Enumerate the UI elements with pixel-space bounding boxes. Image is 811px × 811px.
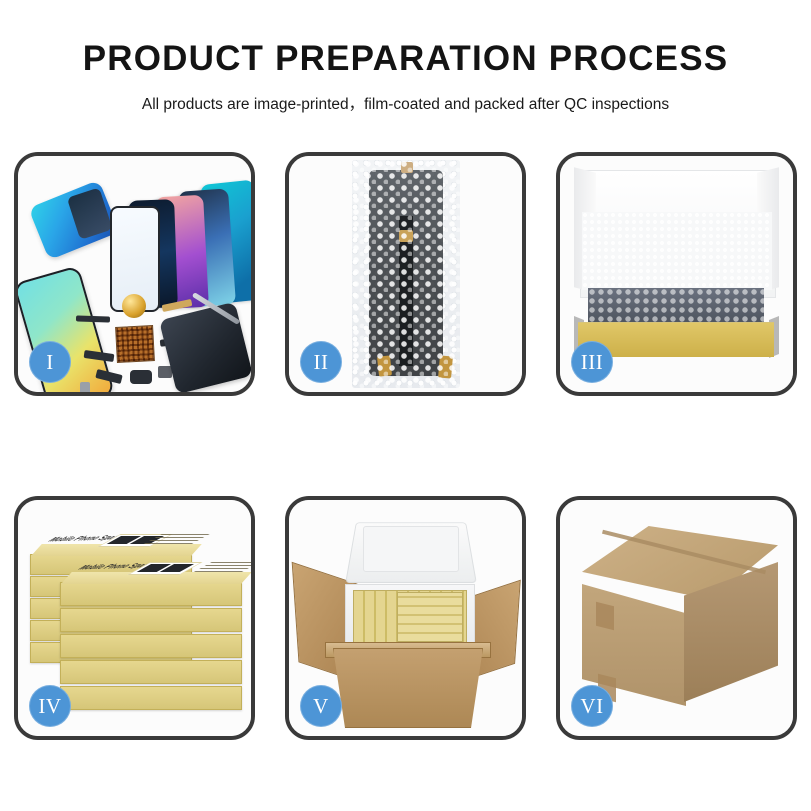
step-badge-6: VI	[571, 685, 613, 727]
stacked-box	[60, 608, 242, 632]
carton-tape-icon	[596, 602, 614, 630]
box-top-face: Mobile Phone Spare Parts	[61, 572, 252, 584]
process-step-panel-5[interactable]: V	[285, 496, 526, 740]
step-badge-2: II	[300, 341, 342, 383]
box-top-face: Mobile Phone Spare Parts	[31, 544, 202, 556]
phone-lineup	[110, 182, 255, 312]
step-badge-3: III	[571, 341, 613, 383]
foam-box-lid-inner	[363, 526, 459, 572]
step-badge-5: V	[300, 685, 342, 727]
header: PRODUCT PREPARATION PROCESS All products…	[0, 0, 811, 114]
stacked-box	[60, 686, 242, 710]
foam-liner	[582, 212, 772, 290]
antistatic-bubble-film	[588, 288, 764, 326]
blue-screen-protector-icon	[28, 180, 119, 260]
phone-back-housing-icon	[159, 302, 253, 395]
carton-body	[333, 648, 483, 728]
vibration-motor-icon	[122, 294, 146, 318]
process-step-panel-3[interactable]: III	[556, 152, 797, 396]
process-step-panel-1[interactable]: I	[14, 152, 255, 396]
process-step-panel-4[interactable]: Mobile Phone Spare Parts Mobile Phone Sp…	[14, 496, 255, 740]
process-step-panel-6[interactable]: VI	[556, 496, 797, 740]
box-spec-text	[192, 562, 255, 573]
process-step-panel-2[interactable]: II	[285, 152, 526, 396]
step-badge-4: IV	[29, 685, 71, 727]
flex-cable-icon	[76, 315, 110, 322]
step-badge-1: I	[29, 341, 71, 383]
stacked-box	[60, 660, 242, 684]
gold-boxes-inside	[397, 592, 463, 642]
stacked-box	[60, 634, 242, 658]
process-steps-grid: I II III	[14, 152, 797, 740]
page-subtitle: All products are image-printed，film-coat…	[0, 92, 811, 114]
speaker-module-icon	[130, 370, 152, 384]
chip-grid-icon	[115, 325, 155, 363]
sim-tray-icon	[80, 382, 90, 396]
stacked-box: Mobile Phone Spare Parts	[60, 582, 242, 606]
page-title: PRODUCT PREPARATION PROCESS	[0, 40, 811, 79]
bubble-wrap-overlay	[352, 160, 460, 388]
